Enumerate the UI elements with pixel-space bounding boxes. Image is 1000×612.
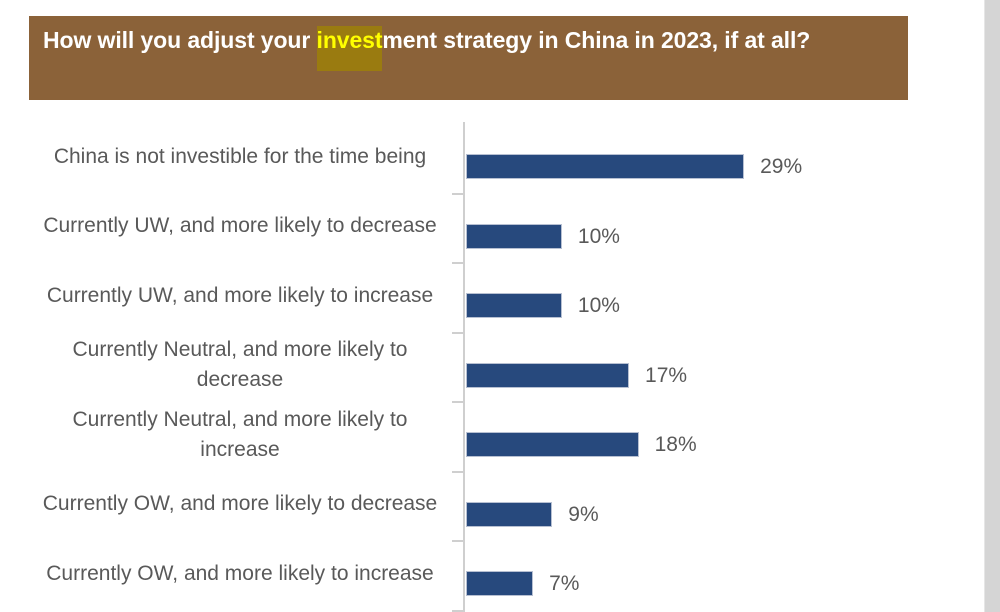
bar-value-label: 17% [645,363,687,388]
axis-tick [452,332,463,334]
chart-bar [466,432,639,457]
axis-tick [452,193,463,195]
category-label: Currently OW, and more likely to increas… [30,539,450,609]
bar-value-label: 7% [549,571,579,596]
chart-plot-area: China is not investible for the time bei… [0,100,985,612]
axis-tick [452,401,463,403]
chart-bar [466,154,744,179]
bar-value-label: 29% [760,154,802,179]
title-part-before: How will you adjust your [43,27,317,53]
chart-bar [466,363,629,388]
category-label: Currently OW, and more likely to decreas… [30,470,450,540]
category-label: China is not investible for the time bei… [30,122,450,192]
axis-tick [452,540,463,542]
title-highlight: invest [317,26,383,71]
category-label: Currently Neutral, and more likely to in… [30,400,450,470]
axis-tick [452,262,463,264]
category-label: Currently UW, and more likely to increas… [30,261,450,331]
bar-value-label: 18% [655,432,697,457]
bar-chart: China is not investible for the time bei… [0,100,985,612]
title-part-after: ment strategy in China in 2023, if at al… [382,27,810,53]
chart-bar [466,571,533,596]
bar-value-label: 10% [578,224,620,249]
axis-tick [452,610,463,612]
category-label: Currently UW, and more likely to decreas… [30,192,450,262]
bar-value-label: 9% [568,502,598,527]
axis-tick [452,471,463,473]
chart-bar [466,224,562,249]
chart-bar [466,293,562,318]
category-label: Currently Neutral, and more likely to de… [30,331,450,401]
window-scrollbar[interactable] [984,0,1000,612]
slide-title-banner: How will you adjust your investment stra… [29,16,908,100]
bar-value-label: 10% [578,293,620,318]
chart-bar [466,502,552,527]
slide-canvas: How will you adjust your investment stra… [0,0,1000,612]
slide-title-text: How will you adjust your investment stra… [43,25,894,56]
